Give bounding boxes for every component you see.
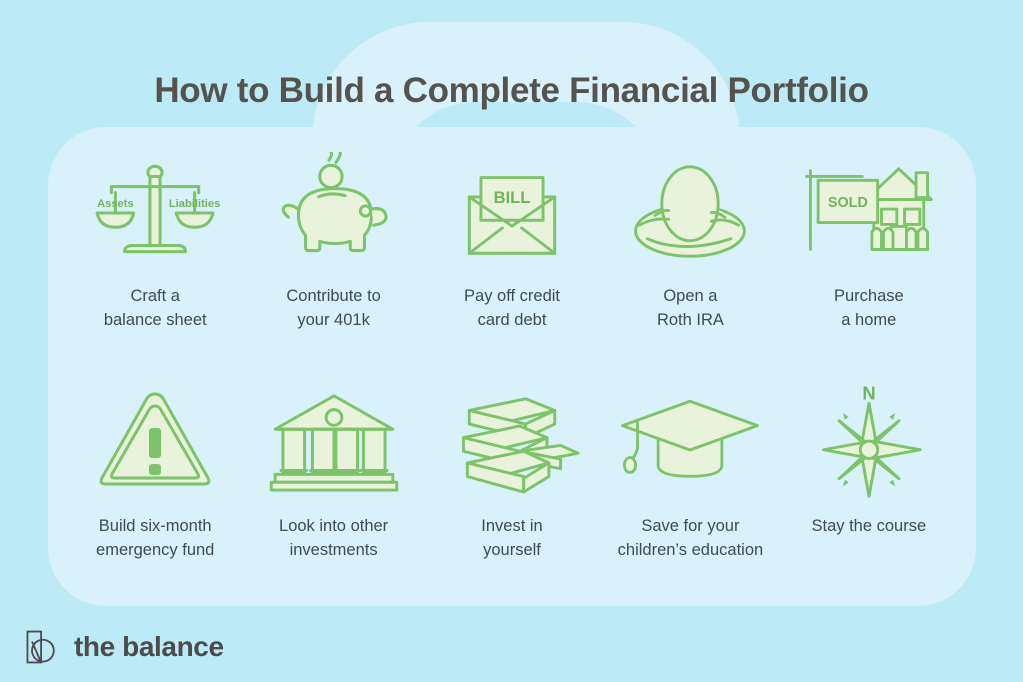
step-label: Save for your children’s education — [618, 515, 764, 563]
nest-egg-icon — [615, 151, 765, 273]
graduation-cap-icon — [615, 381, 765, 503]
scale-label-assets: Assets — [97, 198, 134, 210]
compass-label-north: N — [862, 382, 875, 403]
step-purchase-home[interactable]: SOLD Purchase a home — [780, 151, 958, 369]
balance-scale-icon: Assets Liabilities — [80, 151, 230, 273]
step-label: Stay the course — [812, 515, 927, 539]
scale-label-liabilities: Liabilities — [169, 198, 220, 210]
step-craft-balance-sheet[interactable]: Assets Liabilities Craft a balance sheet — [66, 151, 244, 369]
step-label: Open a Roth IRA — [657, 285, 724, 333]
envelope-label-bill: BILL — [494, 188, 531, 206]
sold-house-icon: SOLD — [794, 151, 944, 273]
step-label: Pay off credit card debt — [464, 285, 560, 333]
brand-logo[interactable]: the balance — [22, 627, 224, 667]
brand-logo-text: the balance — [74, 631, 224, 663]
page-title: How to Build a Complete Financial Portfo… — [0, 71, 1023, 111]
step-pay-credit-card-debt[interactable]: BILL Pay off credit card debt — [423, 151, 601, 369]
step-look-into-investments[interactable]: Look into other investments — [244, 381, 422, 599]
bill-envelope-icon: BILL — [437, 151, 587, 273]
step-contribute-401k[interactable]: Contribute to your 401k — [244, 151, 422, 369]
bank-building-icon — [259, 381, 409, 503]
step-stay-the-course[interactable]: N Stay the course — [780, 381, 958, 599]
step-label: Build six-month emergency fund — [96, 515, 214, 563]
book-stack-icon — [437, 381, 587, 503]
step-build-emergency-fund[interactable]: Build six-month emergency fund — [66, 381, 244, 599]
steps-row-second: Build six-month emergency fund Look into… — [66, 381, 958, 599]
compass-rose-icon: N — [794, 381, 944, 503]
step-save-children-education[interactable]: Save for your children’s education — [601, 381, 779, 599]
house-sign-label-sold: SOLD — [828, 195, 868, 211]
step-label: Look into other investments — [279, 515, 388, 563]
step-label: Contribute to your 401k — [286, 285, 380, 333]
steps-row-first: Assets Liabilities Craft a balance sheet — [66, 151, 958, 369]
step-label: Purchase a home — [834, 285, 904, 333]
step-label: Craft a balance sheet — [104, 285, 207, 333]
step-label: Invest in yourself — [481, 515, 542, 563]
step-invest-in-yourself[interactable]: Invest in yourself — [423, 381, 601, 599]
the-balance-logo-mark — [22, 627, 62, 667]
step-open-roth-ira[interactable]: Open a Roth IRA — [601, 151, 779, 369]
steps-card: Assets Liabilities Craft a balance sheet — [48, 127, 976, 606]
warning-triangle-icon — [80, 381, 230, 503]
piggy-bank-icon — [259, 151, 409, 273]
